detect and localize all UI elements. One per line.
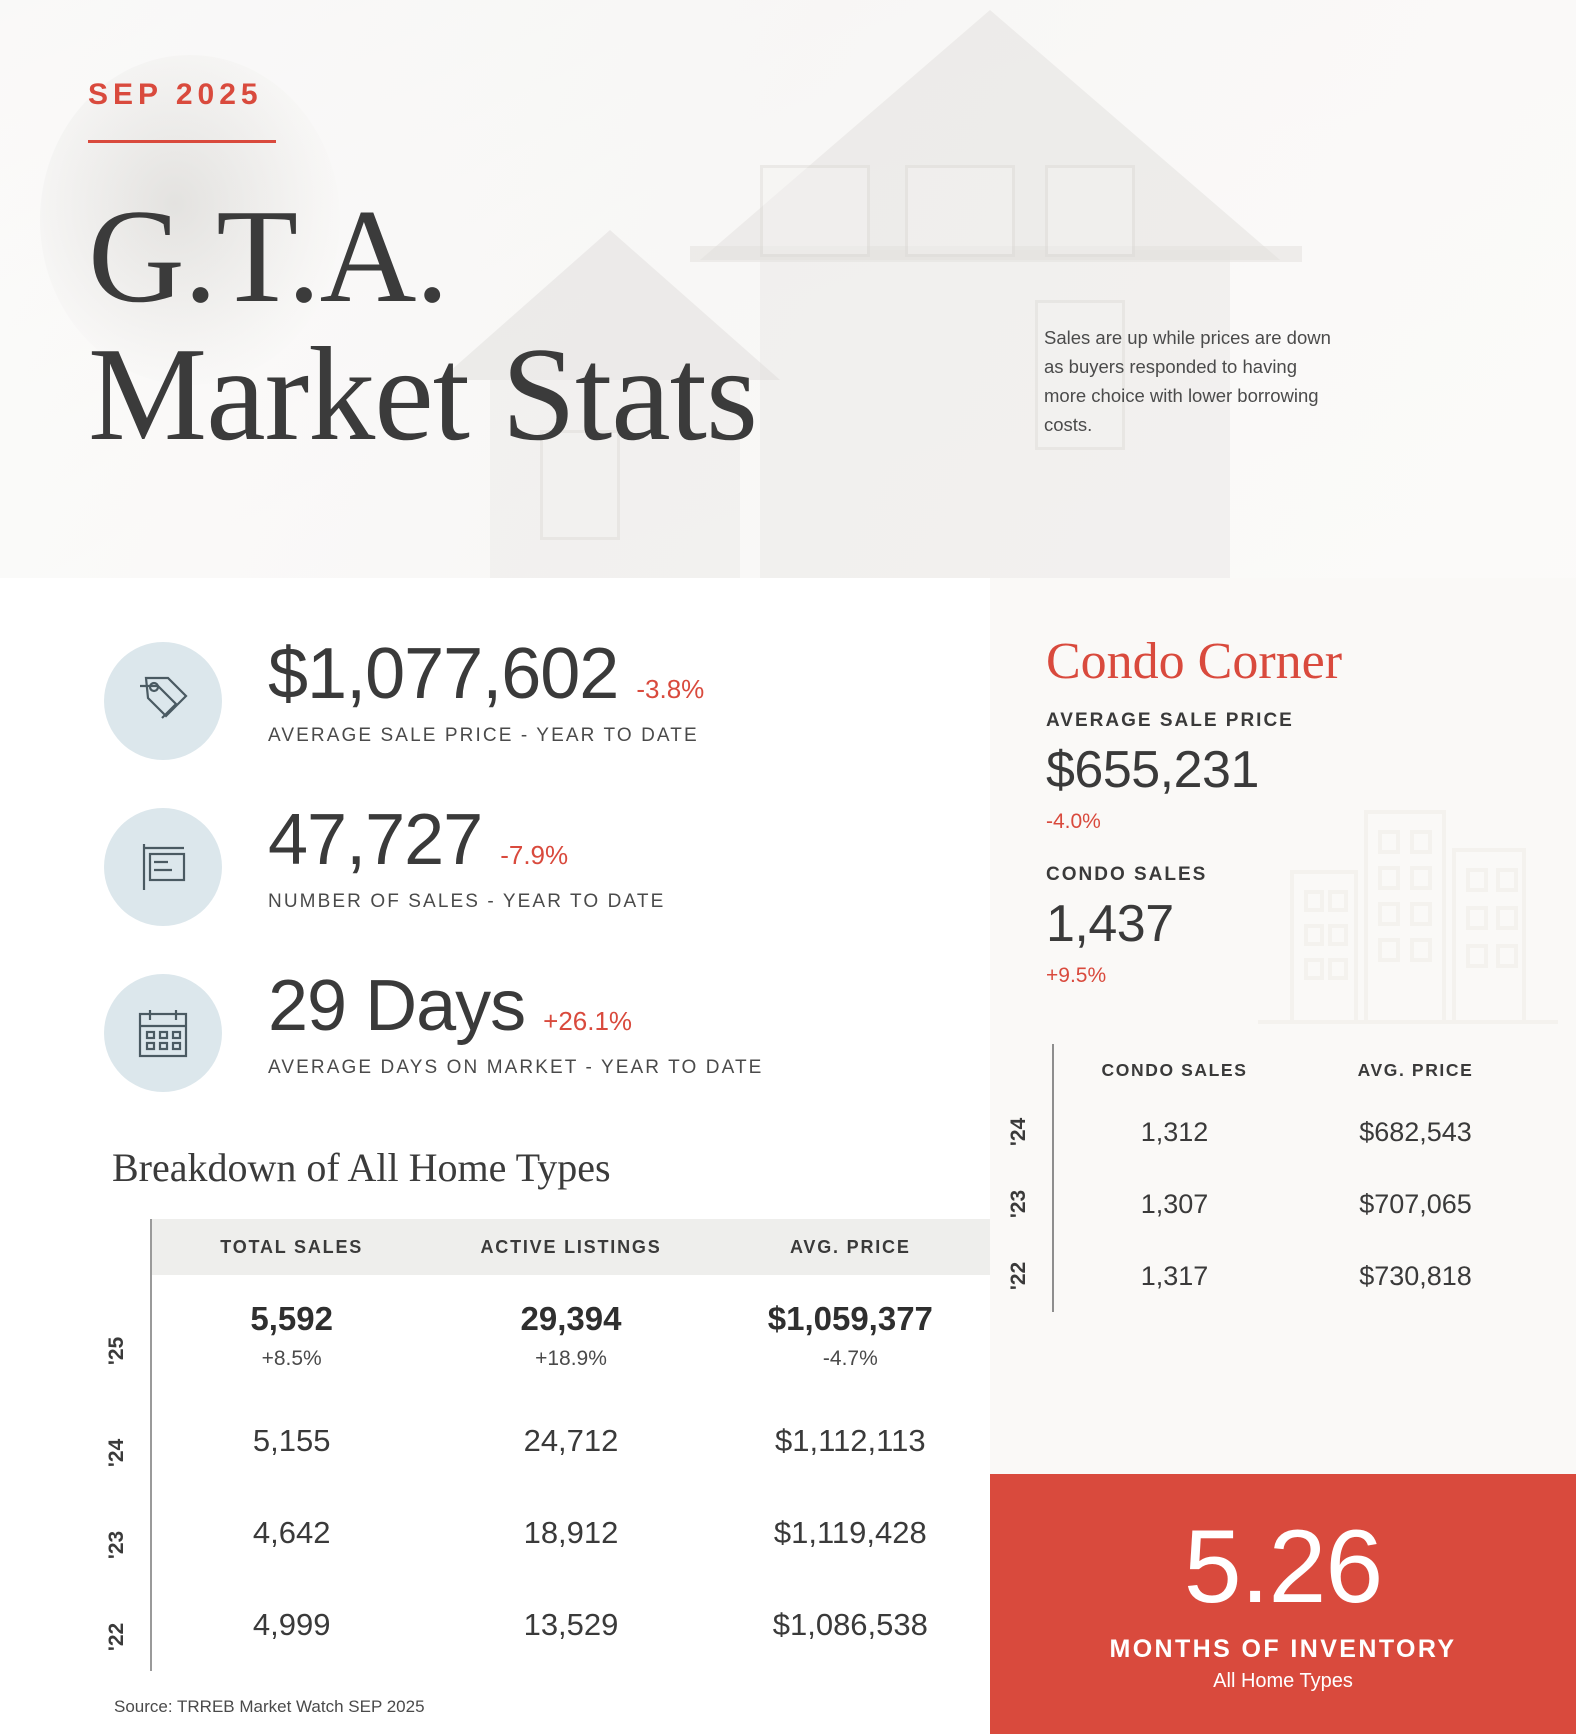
condo-sales-label: CONDO SALES [1046,864,1576,886]
kpi-value: 47,727 [268,804,482,877]
kpi-average-sale-price: $1,077,602 -3.8% AVERAGE SALE PRICE - YE… [104,636,990,760]
cell-total-sales: 5,592 +8.5% [152,1300,431,1371]
condo-year-label-24: '24 [1007,1118,1031,1146]
right-column: Condo Corner AVERAGE SALE PRICE $655,231… [990,578,1576,1734]
condo-avg-price-value: $655,231 [1046,740,1576,800]
kpi-text: 29 Days +26.1% AVERAGE DAYS ON MARKET - … [268,968,763,1079]
column-header-active-listings: ACTIVE LISTINGS [431,1237,710,1258]
breakdown-table-header: TOTAL SALES ACTIVE LISTINGS AVG. PRICE [152,1219,990,1275]
cell-value: 29,394 [431,1300,710,1338]
year-label-25: '25 [105,1337,129,1365]
year-label-23: '23 [105,1531,129,1559]
inventory-sublabel: All Home Types [1213,1670,1353,1693]
cell-active-listings: 29,394 +18.9% [431,1300,710,1371]
calendar-icon [104,974,222,1092]
cell-active-listings: 13,529 [431,1607,710,1643]
cell-value: $1,059,377 [711,1300,990,1338]
cell-delta: +18.9% [431,1347,710,1371]
breakdown-table: '25 '24 '23 '22 TOTAL SALES ACTIVE LISTI… [112,1219,990,1671]
condo-corner-panel: Condo Corner AVERAGE SALE PRICE $655,231… [990,578,1576,988]
condo-year-label-22: '22 [1007,1262,1031,1290]
breakdown-year-axis: '25 '24 '23 '22 [112,1219,150,1671]
title-line-2: Market Stats [88,320,757,468]
kpi-text: 47,727 -7.9% NUMBER OF SALES - YEAR TO D… [268,802,665,913]
condo-cell-sales: 1,317 [1054,1261,1295,1292]
cell-avg-price: $1,119,428 [711,1515,990,1551]
kpi-list: $1,077,602 -3.8% AVERAGE SALE PRICE - YE… [0,578,990,1092]
infographic-page: SEP 2025 G.T.A. Market Stats Sales are u… [0,0,1576,1734]
condo-cell-avg-price: $707,065 [1295,1189,1536,1220]
condo-corner-title: Condo Corner [1046,636,1576,688]
kpi-label: AVERAGE SALE PRICE - YEAR TO DATE [268,725,704,747]
cell-delta: +8.5% [152,1347,431,1371]
cell-total-sales: 4,642 [152,1515,431,1551]
column-header-avg-price: AVG. PRICE [711,1237,990,1258]
cell-total-sales: 5,155 [152,1423,431,1459]
table-row: 4,999 13,529 $1,086,538 [152,1579,990,1671]
inventory-value: 5.26 [1184,1515,1382,1619]
title-line-1: G.T.A. [88,182,448,330]
table-row: 1,312 $682,543 [1054,1096,1536,1168]
condo-sales-delta: +9.5% [1046,964,1576,988]
kpi-number-of-sales: 47,727 -7.9% NUMBER OF SALES - YEAR TO D… [104,802,990,926]
table-row: 4,642 18,912 $1,119,428 [152,1487,990,1579]
hero-blurb: Sales are up while prices are down as bu… [1044,324,1344,439]
table-row: 5,592 +8.5% 29,394 +18.9% $1,059,377 -4.… [152,1275,990,1395]
breakdown-title: Breakdown of All Home Types [112,1144,990,1191]
kpi-value: $1,077,602 [268,638,618,711]
cell-active-listings: 18,912 [431,1515,710,1551]
year-label-22: '22 [105,1623,129,1651]
condo-cell-sales: 1,312 [1054,1117,1295,1148]
hero-banner: SEP 2025 G.T.A. Market Stats Sales are u… [0,0,1576,578]
condo-cell-avg-price: $682,543 [1295,1117,1536,1148]
year-label-24: '24 [105,1439,129,1467]
condo-year-label-23: '23 [1007,1190,1031,1218]
table-row: 1,317 $730,818 [1054,1240,1536,1312]
breakdown-section: Breakdown of All Home Types '25 '24 '23 … [0,1134,990,1717]
page-title: G.T.A. Market Stats [88,187,1576,463]
cell-total-sales: 4,999 [152,1607,431,1643]
kpi-label: NUMBER OF SALES - YEAR TO DATE [268,891,665,913]
cell-value: 5,592 [152,1300,431,1338]
kpi-label: AVERAGE DAYS ON MARKET - YEAR TO DATE [268,1057,763,1079]
cell-avg-price: $1,086,538 [711,1607,990,1643]
condo-sales-value: 1,437 [1046,894,1576,954]
kpi-value-row: 29 Days +26.1% [268,970,763,1043]
inventory-label: MONTHS OF INVENTORY [1109,1635,1456,1664]
condo-cell-avg-price: $730,818 [1295,1261,1536,1292]
source-note: Source: TRREB Market Watch SEP 2025 [114,1697,990,1717]
condo-table: '24 '23 '22 CONDO SALES AVG. PRICE 1,312… [990,1044,1576,1312]
for-sale-sign-icon [104,808,222,926]
cell-avg-price: $1,059,377 -4.7% [711,1300,990,1371]
cell-avg-price: $1,112,113 [711,1423,990,1459]
kpi-value-row: 47,727 -7.9% [268,804,665,877]
table-row: 5,155 24,712 $1,112,113 [152,1395,990,1487]
date-kicker: SEP 2025 [88,78,1576,112]
cell-active-listings: 24,712 [431,1423,710,1459]
kpi-delta: -7.9% [500,840,568,871]
condo-avg-price-label: AVERAGE SALE PRICE [1046,710,1576,732]
condo-table-body: CONDO SALES AVG. PRICE 1,312 $682,543 1,… [1052,1044,1536,1312]
condo-cell-sales: 1,307 [1054,1189,1295,1220]
kpi-value-row: $1,077,602 -3.8% [268,638,704,711]
kpi-days-on-market: 29 Days +26.1% AVERAGE DAYS ON MARKET - … [104,968,990,1092]
price-tag-icon [104,642,222,760]
kpi-delta: -3.8% [636,674,704,705]
main-content: $1,077,602 -3.8% AVERAGE SALE PRICE - YE… [0,578,1576,1734]
condo-year-axis: '24 '23 '22 [1014,1044,1052,1312]
column-header-total-sales: TOTAL SALES [152,1237,431,1258]
kpi-delta: +26.1% [543,1006,632,1037]
condo-avg-price-delta: -4.0% [1046,810,1576,834]
months-of-inventory-box: 5.26 MONTHS OF INVENTORY All Home Types [990,1474,1576,1734]
kpi-value: 29 Days [268,970,525,1043]
left-column: $1,077,602 -3.8% AVERAGE SALE PRICE - YE… [0,578,990,1734]
kicker-rule [88,140,276,143]
cell-delta: -4.7% [711,1347,990,1371]
breakdown-table-body: TOTAL SALES ACTIVE LISTINGS AVG. PRICE 5… [150,1219,990,1671]
kpi-text: $1,077,602 -3.8% AVERAGE SALE PRICE - YE… [268,636,704,747]
table-row: 1,307 $707,065 [1054,1168,1536,1240]
